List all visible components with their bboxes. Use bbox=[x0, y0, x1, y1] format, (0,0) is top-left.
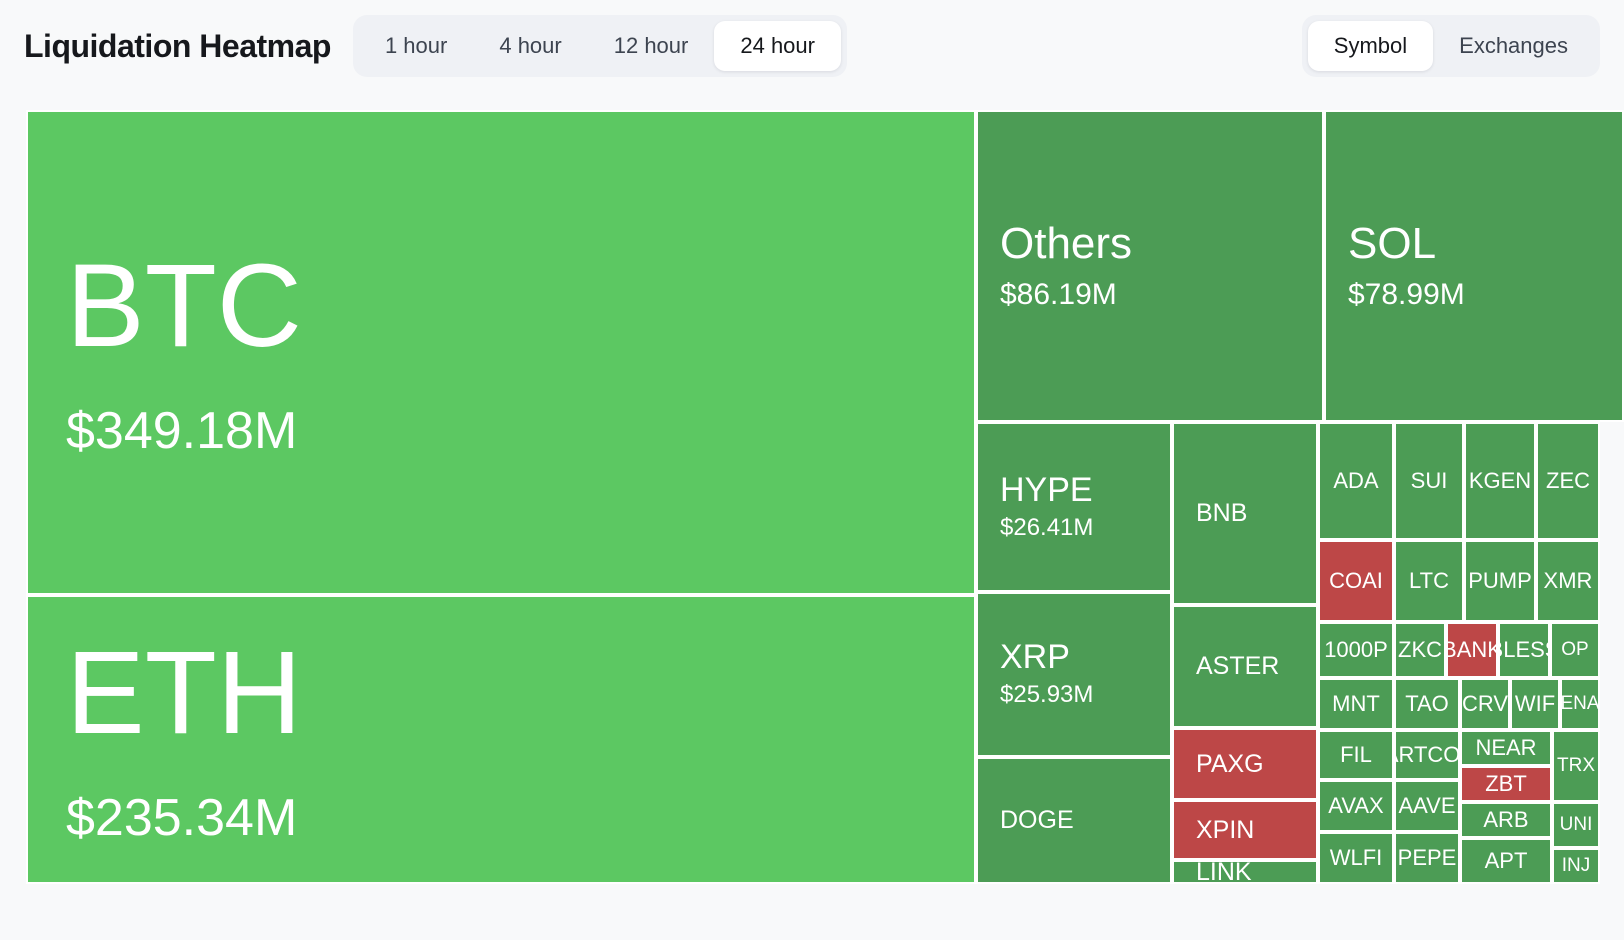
treemap-tile-aster[interactable]: ASTER bbox=[1172, 605, 1318, 728]
tile-symbol-label: MNT bbox=[1332, 692, 1380, 715]
tile-symbol-label: LINK bbox=[1196, 860, 1316, 884]
treemap-tile-avax[interactable]: AVAX bbox=[1318, 780, 1394, 832]
liquidation-heatmap-page: Liquidation Heatmap 1 hour4 hour12 hour2… bbox=[0, 0, 1624, 940]
treemap-tile-near[interactable]: NEAR bbox=[1460, 730, 1552, 766]
tile-symbol-label: TRX bbox=[1557, 756, 1595, 776]
treemap-tile-xpin[interactable]: XPIN bbox=[1172, 800, 1318, 860]
tile-symbol-label: 1000P bbox=[1324, 638, 1388, 661]
tile-symbol-label: WIF bbox=[1515, 692, 1555, 715]
tile-symbol-label: BLESS bbox=[1498, 638, 1550, 661]
treemap-tile-uni[interactable]: UNI bbox=[1552, 802, 1600, 848]
tile-symbol-label: ETH bbox=[66, 632, 974, 756]
tile-symbol-label: APT bbox=[1485, 849, 1528, 872]
timeframe-option-4-hour[interactable]: 4 hour bbox=[473, 21, 587, 71]
treemap-tile-zec[interactable]: ZEC bbox=[1536, 422, 1600, 540]
tile-symbol-label: AAVE bbox=[1398, 794, 1455, 817]
tile-symbol-label: ASTER bbox=[1196, 653, 1316, 679]
tile-symbol-label: BANK bbox=[1446, 638, 1498, 661]
tile-symbol-label: TAO bbox=[1405, 692, 1449, 715]
treemap-tile-wif[interactable]: WIF bbox=[1510, 678, 1560, 730]
treemap-tile-aave[interactable]: AAVE bbox=[1394, 780, 1460, 832]
tile-symbol-label: LTC bbox=[1409, 569, 1449, 592]
treemap-chart: BTC$349.18METH$235.34MOthers$86.19MSOL$7… bbox=[26, 110, 1624, 884]
treemap-tile-ltc[interactable]: LTC bbox=[1394, 540, 1464, 622]
treemap-tile-bless[interactable]: BLESS bbox=[1498, 622, 1550, 678]
treemap-tile-pepe[interactable]: PEPE bbox=[1394, 832, 1460, 884]
tile-symbol-label: AVAX bbox=[1328, 794, 1383, 817]
tile-symbol-label: ADA bbox=[1333, 469, 1378, 492]
treemap-tile-bnb[interactable]: BNB bbox=[1172, 422, 1318, 605]
tile-symbol-label: OP bbox=[1561, 640, 1588, 660]
tile-symbol-label: SUI bbox=[1411, 469, 1448, 492]
tile-symbol-label: PUMP bbox=[1468, 569, 1532, 592]
treemap-tile-tao[interactable]: TAO bbox=[1394, 678, 1460, 730]
tile-symbol-label: PAXG bbox=[1196, 751, 1316, 777]
tile-symbol-label: ARB bbox=[1483, 808, 1528, 831]
timeframe-option-1-hour[interactable]: 1 hour bbox=[359, 21, 473, 71]
treemap-tile-trx[interactable]: TRX bbox=[1552, 730, 1600, 802]
tile-value-label: $86.19M bbox=[1000, 278, 1322, 311]
treemap-tile-sol[interactable]: SOL$78.99M bbox=[1324, 110, 1624, 422]
tile-symbol-label: INJ bbox=[1562, 856, 1591, 876]
treemap-tile-coai[interactable]: COAI bbox=[1318, 540, 1394, 622]
treemap-tile-zbt[interactable]: ZBT bbox=[1460, 766, 1552, 802]
tile-symbol-label: NEAR bbox=[1475, 736, 1536, 759]
tile-symbol-label: WLFI bbox=[1330, 846, 1383, 869]
tile-symbol-label: COAI bbox=[1329, 569, 1383, 592]
tile-symbol-label: XPIN bbox=[1196, 817, 1316, 843]
treemap-tile-zkc[interactable]: ZKC bbox=[1394, 622, 1446, 678]
treemap-tile-ada[interactable]: ADA bbox=[1318, 422, 1394, 540]
treemap-tile-arb[interactable]: ARB bbox=[1460, 802, 1552, 838]
treemap-tile-sui[interactable]: SUI bbox=[1394, 422, 1464, 540]
tile-symbol-label: ENA bbox=[1560, 694, 1599, 714]
treemap-tile-ena[interactable]: ENA bbox=[1560, 678, 1600, 730]
page-title: Liquidation Heatmap bbox=[24, 28, 331, 65]
treemap-tile-fil[interactable]: FIL bbox=[1318, 730, 1394, 780]
treemap-tile-inj[interactable]: INJ bbox=[1552, 848, 1600, 884]
treemap-tile-btc[interactable]: BTC$349.18M bbox=[26, 110, 976, 595]
treemap-tile-others[interactable]: Others$86.19M bbox=[976, 110, 1324, 422]
tile-symbol-label: ZBT bbox=[1485, 772, 1527, 795]
treemap-tile-1000p[interactable]: 1000P bbox=[1318, 622, 1394, 678]
treemap-tile-hype[interactable]: HYPE$26.41M bbox=[976, 422, 1172, 592]
treemap-tile-xrp[interactable]: XRP$25.93M bbox=[976, 592, 1172, 757]
view-option-exchanges[interactable]: Exchanges bbox=[1433, 21, 1594, 71]
treemap-tile-fartcoin[interactable]: FARTCOIN bbox=[1394, 730, 1460, 780]
tile-value-label: $235.34M bbox=[66, 790, 974, 847]
treemap-tile-wlfi[interactable]: WLFI bbox=[1318, 832, 1394, 884]
timeframe-segmented-control: 1 hour4 hour12 hour24 hour bbox=[353, 15, 847, 77]
timeframe-option-24-hour[interactable]: 24 hour bbox=[714, 21, 841, 71]
tile-symbol-label: BTC bbox=[66, 245, 974, 369]
tile-value-label: $25.93M bbox=[1000, 682, 1170, 708]
treemap-tile-apt[interactable]: APT bbox=[1460, 838, 1552, 884]
tile-symbol-label: ZEC bbox=[1546, 469, 1590, 492]
tile-symbol-label: BNB bbox=[1196, 500, 1316, 526]
treemap-tile-mnt[interactable]: MNT bbox=[1318, 678, 1394, 730]
header-bar: Liquidation Heatmap 1 hour4 hour12 hour2… bbox=[0, 0, 1624, 92]
tile-symbol-label: FARTCOIN bbox=[1394, 743, 1460, 766]
treemap-tile-paxg[interactable]: PAXG bbox=[1172, 728, 1318, 800]
treemap-tile-doge[interactable]: DOGE bbox=[976, 757, 1172, 884]
treemap-tile-kgen[interactable]: KGEN bbox=[1464, 422, 1536, 540]
tile-symbol-label: Others bbox=[1000, 221, 1322, 267]
tile-value-label: $349.18M bbox=[66, 403, 974, 460]
tile-symbol-label: UNI bbox=[1560, 815, 1593, 835]
tile-symbol-label: DOGE bbox=[1000, 807, 1170, 833]
treemap-tile-eth[interactable]: ETH$235.34M bbox=[26, 595, 976, 884]
treemap-tile-xmr[interactable]: XMR bbox=[1536, 540, 1600, 622]
tile-value-label: $26.41M bbox=[1000, 515, 1170, 541]
treemap-tile-pump[interactable]: PUMP bbox=[1464, 540, 1536, 622]
tile-symbol-label: FIL bbox=[1340, 743, 1372, 766]
tile-symbol-label: XRP bbox=[1000, 640, 1170, 676]
view-mode-segmented-control: SymbolExchanges bbox=[1302, 15, 1600, 77]
treemap-tile-crv[interactable]: CRV bbox=[1460, 678, 1510, 730]
tile-symbol-label: HYPE bbox=[1000, 473, 1170, 509]
tile-value-label: $78.99M bbox=[1348, 278, 1622, 311]
tile-symbol-label: XMR bbox=[1544, 569, 1593, 592]
treemap-tile-link[interactable]: LINK bbox=[1172, 860, 1318, 884]
tile-symbol-label: ZKC bbox=[1398, 638, 1442, 661]
tile-symbol-label: KGEN bbox=[1469, 469, 1531, 492]
tile-symbol-label: PEPE bbox=[1398, 846, 1457, 869]
view-option-symbol[interactable]: Symbol bbox=[1308, 21, 1433, 71]
timeframe-option-12-hour[interactable]: 12 hour bbox=[588, 21, 715, 71]
tile-symbol-label: CRV bbox=[1462, 692, 1508, 715]
treemap-tile-bank[interactable]: BANK bbox=[1446, 622, 1498, 678]
treemap-tile-op[interactable]: OP bbox=[1550, 622, 1600, 678]
tile-symbol-label: SOL bbox=[1348, 221, 1622, 267]
